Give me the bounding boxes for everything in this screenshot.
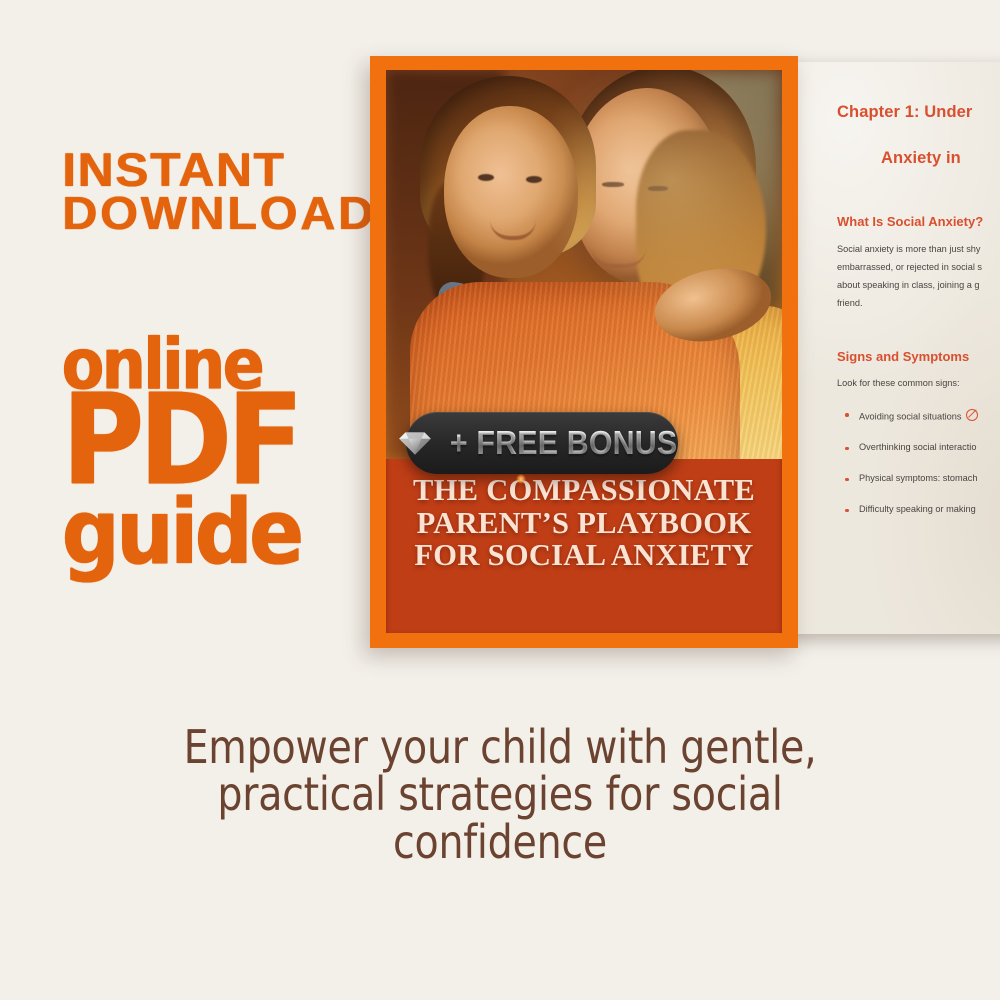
pdf-paragraph-line: about speaking in class, joining a g: [837, 278, 1000, 293]
poster-canvas: INSTANT DOWNLOAD online PDF guide Chapte…: [0, 0, 1000, 1000]
diamond-gem-icon: [396, 430, 434, 457]
pdf-section-heading-what-is-social-anxiety: What Is Social Anxiety?: [837, 214, 1000, 229]
pdf-paragraph-line: embarrassed, or rejected in social s: [837, 260, 1000, 275]
bullet-dot-icon: [845, 413, 849, 417]
pdf-bullet-item: Overthinking social interactio: [837, 442, 1000, 452]
pdf-bullet-item: Difficulty speaking or making: [837, 504, 1000, 514]
pdf-chapter-heading-line1: Chapter 1: Under: [837, 104, 1000, 121]
bullet-dot-icon: [845, 447, 849, 451]
ebook-cover-frame: + FREE BONUS THE COMPASSIONATE PARENT’S …: [370, 56, 798, 648]
pdf-bullet-text: Difficulty speaking or making: [859, 504, 976, 514]
tagline-line2: practical strategies for social: [70, 771, 930, 818]
pdf-bullet-item: Avoiding social situations: [837, 409, 1000, 422]
pdf-bullet-text: Physical symptoms: stomach: [859, 473, 977, 483]
pdf-paragraph-line: Social anxiety is more than just shy: [837, 242, 1000, 257]
pdf-list-lead: Look for these common signs:: [837, 378, 1000, 388]
instant-line: INSTANT: [62, 148, 380, 192]
free-bonus-label: + FREE BONUS: [450, 424, 677, 462]
tagline-line1: Empower your child with gentle,: [70, 724, 930, 771]
free-bonus-badge: + FREE BONUS: [406, 412, 678, 474]
cover-photo-mother-and-daughter: [386, 70, 782, 459]
tagline-line3: confidence: [70, 819, 930, 866]
pdf-chapter-heading-line2: Anxiety in: [837, 150, 1000, 167]
ebook-cover: + FREE BONUS THE COMPASSIONATE PARENT’S …: [386, 70, 782, 633]
sparkle-icon: [516, 474, 526, 484]
pdf-bullet-item: Physical symptoms: stomach: [837, 473, 1000, 483]
cover-title-line1: THE COMPASSIONATE: [396, 474, 772, 507]
bullet-dot-icon: [845, 478, 849, 482]
photo-warm-glow: [386, 70, 782, 459]
pdf-section-heading-signs-and-symptoms: Signs and Symptoms: [837, 349, 1000, 364]
pdf-bullet-text: Overthinking social interactio: [859, 442, 976, 452]
online-pdf-guide-headline: online PDF guide: [62, 338, 362, 559]
download-line: DOWNLOAD: [62, 192, 380, 235]
cover-title-line2: PARENT’S PLAYBOOK: [396, 507, 772, 540]
instant-download-headline: INSTANT DOWNLOAD: [62, 148, 380, 235]
no-entry-icon: [966, 409, 978, 421]
pdf-bullet-text: Avoiding social situations: [859, 411, 961, 421]
cover-title-line3: FOR SOCIAL ANXIETY: [396, 539, 772, 572]
guide-line: guide: [62, 498, 371, 569]
pdf-paragraph-line: friend.: [837, 296, 1000, 311]
cover-title: THE COMPASSIONATE PARENT’S PLAYBOOK FOR …: [386, 474, 782, 572]
tagline: Empower your child with gentle, practica…: [70, 724, 930, 866]
pdf-line: PDF: [62, 393, 362, 491]
bullet-dot-icon: [845, 509, 849, 513]
pdf-page-preview: Chapter 1: Under Anxiety in What Is Soci…: [793, 62, 1000, 634]
